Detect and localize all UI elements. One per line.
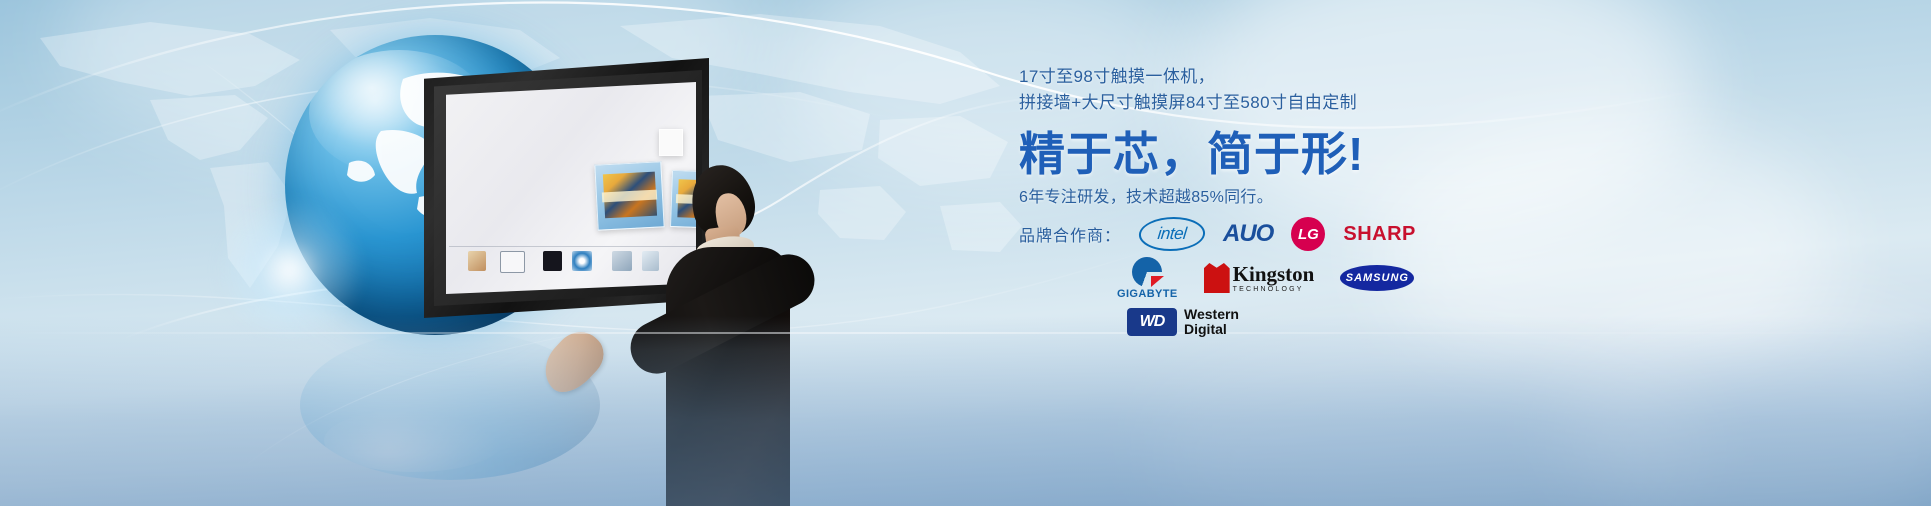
cloud-wash bbox=[1560, 300, 1931, 506]
cloud-wash bbox=[1150, 330, 1710, 506]
media-disc-icon[interactable] bbox=[543, 251, 563, 271]
wd-line-1: Western bbox=[1184, 307, 1239, 322]
partner-row-2: GIGABYTE Kingston TECHNOLOGY SAMSUNG bbox=[1019, 256, 1579, 300]
partner-row-1: 品牌合作商： intel AUO LG SHARP bbox=[1019, 212, 1579, 256]
auo-logo[interactable]: AUO bbox=[1223, 220, 1273, 248]
kingston-logo[interactable]: Kingston TECHNOLOGY bbox=[1204, 263, 1315, 293]
globe-lens-flare bbox=[215, 195, 365, 345]
partner-logos: 品牌合作商： intel AUO LG SHARP GIGABYTE Kings… bbox=[1019, 212, 1579, 344]
copy-block: 17寸至98寸触摸一体机， 拼接墙+大尺寸触摸屏84寸至580寸自由定制 精于芯… bbox=[1019, 64, 1539, 210]
screen-doc-thumb[interactable] bbox=[659, 129, 684, 156]
sub-line-1: 17寸至98寸触摸一体机， bbox=[1019, 64, 1539, 90]
person-arm bbox=[622, 245, 824, 382]
intel-logo[interactable]: intel bbox=[1137, 217, 1207, 251]
kingston-tagline: TECHNOLOGY bbox=[1233, 286, 1315, 293]
promo-banner: 17寸至98寸触摸一体机， 拼接墙+大尺寸触摸屏84寸至580寸自由定制 精于芯… bbox=[0, 0, 1931, 506]
gigabyte-wordmark: GIGABYTE bbox=[1117, 288, 1178, 300]
lg-logo[interactable]: LG bbox=[1291, 217, 1325, 251]
eye-icon[interactable] bbox=[572, 251, 592, 271]
kingston-crown-icon bbox=[1204, 263, 1230, 293]
gigabyte-logo[interactable]: GIGABYTE bbox=[1117, 257, 1178, 300]
person-torso bbox=[666, 247, 790, 506]
western-digital-logo[interactable]: WD Western Digital bbox=[1127, 307, 1239, 336]
kingston-wordmark: Kingston bbox=[1233, 264, 1315, 285]
partner-label: 品牌合作商： bbox=[1019, 222, 1121, 246]
headline: 精于芯，简于形! bbox=[1019, 128, 1539, 180]
wd-mark-icon: WD bbox=[1127, 308, 1177, 336]
wd-line-2: Digital bbox=[1184, 322, 1239, 337]
photos-icon[interactable] bbox=[468, 251, 485, 271]
person-touching-screen bbox=[600, 155, 790, 506]
tagline: 6年专注研发，技术超越85%同行。 bbox=[1019, 186, 1539, 210]
sharp-logo[interactable]: SHARP bbox=[1343, 223, 1416, 246]
samsung-logo[interactable]: SAMSUNG bbox=[1340, 265, 1414, 291]
sub-line-2: 拼接墙+大尺寸触摸屏84寸至580寸自由定制 bbox=[1019, 90, 1539, 116]
gigabyte-mark-icon bbox=[1132, 257, 1162, 287]
document-icon[interactable] bbox=[500, 251, 524, 273]
partner-row-3: WD Western Digital bbox=[1019, 300, 1579, 344]
